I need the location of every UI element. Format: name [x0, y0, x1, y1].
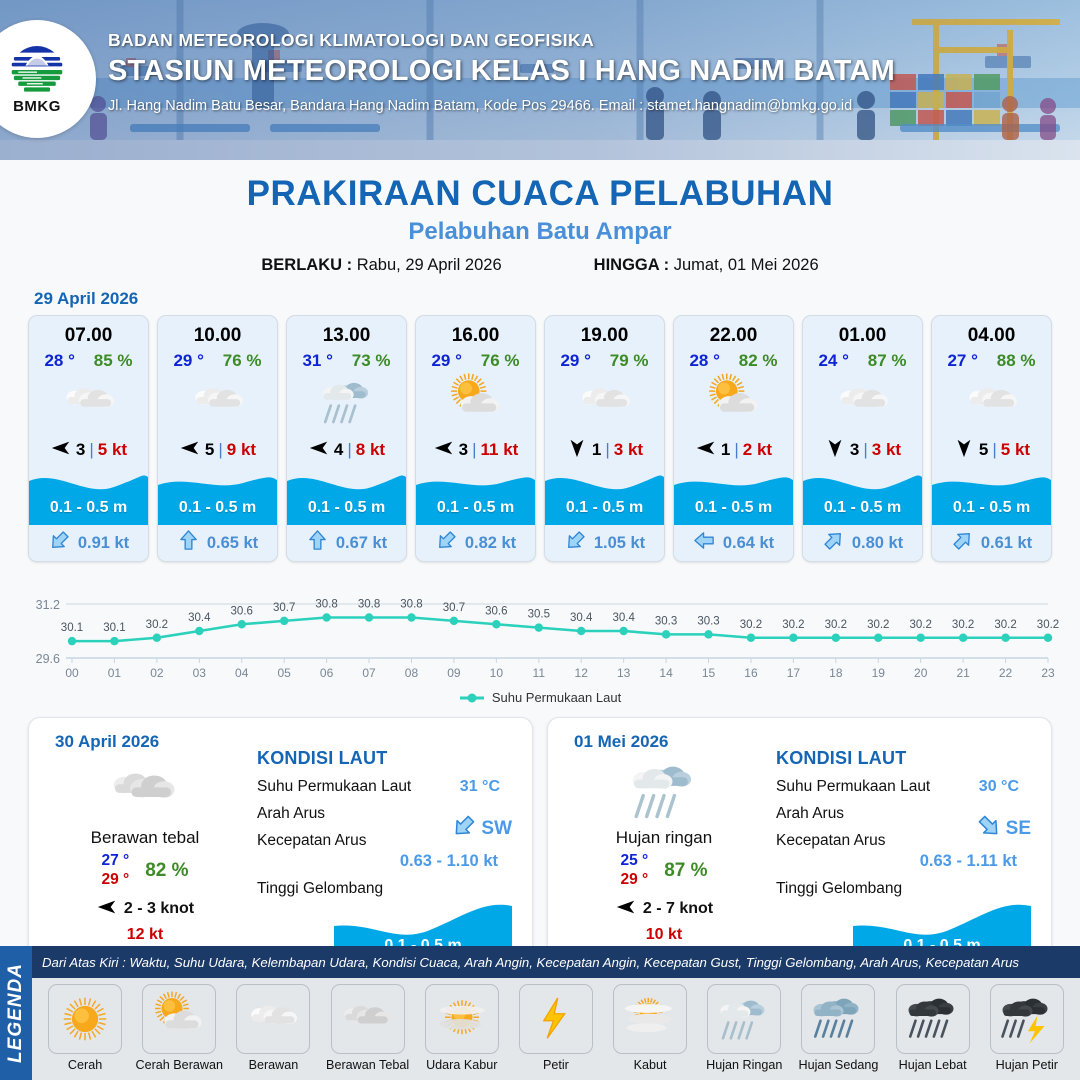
daily-temp-max: 29 °	[620, 871, 648, 890]
card-weather-icon-berawan	[803, 371, 922, 433]
card-wave-block: 0.1 - 0.5 m	[416, 467, 535, 525]
card-gust: 3 kt	[614, 440, 643, 460]
legenda-item: Cerah	[41, 984, 129, 1072]
card-current-direction-icon	[693, 529, 716, 557]
svg-text:23: 23	[1041, 666, 1055, 680]
berlaku-label: BERLAKU :	[261, 256, 352, 274]
svg-text:30.2: 30.2	[910, 619, 932, 631]
card-current-speed: 1.05 kt	[594, 534, 645, 553]
current-speed-value: 0.63 - 1.10 kt	[257, 852, 518, 871]
card-wind-separator: |	[863, 440, 867, 460]
svg-text:15: 15	[702, 666, 716, 680]
svg-text:31.2: 31.2	[36, 598, 60, 612]
card-wave-height: 0.1 - 0.5 m	[932, 499, 1051, 517]
sea-condition-title: KONDISI LAUT	[257, 748, 518, 769]
card-wind-separator: |	[734, 440, 738, 460]
daily-weather-icon-hujan-ringan	[564, 760, 764, 822]
card-wave-height: 0.1 - 0.5 m	[287, 499, 406, 517]
legenda-caption: Udara Kabur	[418, 1058, 506, 1072]
legenda-item: Hujan Ringan	[700, 984, 788, 1072]
legenda-icon-hujan-lebat	[896, 984, 970, 1054]
svg-text:30.2: 30.2	[146, 619, 168, 631]
card-wave-block: 0.1 - 0.5 m	[674, 467, 793, 525]
svg-text:30.7: 30.7	[273, 602, 295, 614]
svg-text:30.1: 30.1	[61, 622, 83, 634]
card-wind-separator: |	[218, 440, 222, 460]
legenda-item: Berawan Tebal	[324, 984, 412, 1072]
daily-humidity: 87 %	[664, 860, 707, 882]
card-wind-speed: 5	[205, 440, 214, 460]
daily-date: 01 Mei 2026	[574, 732, 669, 752]
card-current-speed: 0.91 kt	[78, 534, 129, 553]
page-subtitle: Pelabuhan Batu Ampar	[0, 218, 1080, 246]
svg-text:30.8: 30.8	[358, 599, 380, 611]
forecast-card[interactable]: 04.00 27 ° 88 % 5 | 5 kt 0.1 - 0.5 m 0.6…	[931, 315, 1052, 562]
card-wind-direction-icon	[824, 437, 846, 464]
legend-label: Suhu Permukaan Laut	[492, 690, 621, 705]
card-wind-direction-icon	[50, 437, 72, 464]
current-speed-label: Kecepatan Arus	[776, 832, 885, 849]
legenda-icon-petir	[519, 984, 593, 1054]
sst-row: Suhu Permukaan Laut 31 °C	[257, 778, 518, 796]
svg-text:16: 16	[744, 666, 758, 680]
legenda-item: Hujan Petir	[983, 984, 1071, 1072]
daily-gust: 12 kt	[45, 926, 245, 944]
card-wind-separator: |	[89, 440, 93, 460]
legenda-side-label: LEGENDA	[0, 946, 32, 1080]
card-time: 19.00	[545, 316, 664, 347]
card-wave-height: 0.1 - 0.5 m	[674, 499, 793, 517]
forecast-card[interactable]: 13.00 31 ° 73 % 4 | 8 kt 0.1 - 0.5 m 0.6…	[286, 315, 407, 562]
svg-text:30.2: 30.2	[825, 619, 847, 631]
card-temperature: 29 °	[560, 351, 590, 371]
card-wave-height: 0.1 - 0.5 m	[416, 499, 535, 517]
daily-humidity: 82 %	[145, 860, 188, 882]
legenda-note: Dari Atas Kiri : Waktu, Suhu Udara, Kele…	[32, 946, 1080, 978]
svg-text:30.4: 30.4	[612, 612, 635, 624]
svg-text:30.4: 30.4	[570, 612, 593, 624]
svg-text:30.6: 30.6	[231, 605, 253, 617]
daily-gust: 10 kt	[564, 926, 764, 944]
hingga-label: HINGGA :	[594, 256, 669, 274]
wave-height-label: Tinggi Gelombang	[776, 880, 902, 897]
legenda-icon-hujan-petir	[990, 984, 1064, 1054]
forecast-card[interactable]: 22.00 28 ° 82 % 1 | 2 kt 0.1 - 0.5 m 0.6…	[673, 315, 794, 562]
card-current-direction-icon	[822, 529, 845, 557]
svg-text:30.2: 30.2	[952, 619, 974, 631]
card-wind-speed: 1	[721, 440, 730, 460]
current-speed-row: Kecepatan Arus	[776, 832, 1037, 850]
card-weather-icon-berawan	[545, 371, 664, 433]
agency-name: BADAN METEOROLOGI KLIMATOLOGI DAN GEOFIS…	[108, 30, 1060, 51]
svg-text:30.7: 30.7	[443, 602, 465, 614]
daily-date: 30 April 2026	[55, 732, 159, 752]
svg-text:09: 09	[447, 666, 461, 680]
wave-height-row: Tinggi Gelombang	[776, 880, 1037, 898]
card-temperature: 29 °	[431, 351, 461, 371]
daily-weather-icon-berawan-tebal	[45, 760, 245, 822]
svg-text:21: 21	[956, 666, 970, 680]
svg-text:17: 17	[787, 666, 801, 680]
daily-wind-direction-icon	[615, 896, 637, 923]
svg-text:30.6: 30.6	[485, 605, 507, 617]
station-address: Jl. Hang Nadim Batu Besar, Bandara Hang …	[108, 98, 1060, 114]
card-time: 10.00	[158, 316, 277, 347]
svg-text:18: 18	[829, 666, 843, 680]
legenda-caption: Berawan	[229, 1058, 317, 1072]
legenda-side-text: LEGENDA	[5, 963, 27, 1063]
svg-text:30.4: 30.4	[188, 612, 211, 624]
legenda-icon-cerah-berawan	[142, 984, 216, 1054]
forecast-date: 29 April 2026	[34, 289, 1080, 309]
daily-condition: Hujan ringan	[564, 828, 764, 848]
card-wind-direction-icon	[179, 437, 201, 464]
legenda-item: Cerah Berawan	[135, 984, 223, 1072]
card-time: 01.00	[803, 316, 922, 347]
svg-text:22: 22	[999, 666, 1013, 680]
svg-text:30.2: 30.2	[867, 619, 889, 631]
legenda-item: Hujan Lebat	[889, 984, 977, 1072]
card-wind-speed: 3	[459, 440, 468, 460]
daily-temp-min: 25 °	[620, 852, 648, 871]
legenda-item: Kabut	[606, 984, 694, 1072]
legenda-item: Hujan Sedang	[794, 984, 882, 1072]
card-current-speed: 0.65 kt	[207, 534, 258, 553]
chart-legend: Suhu Permukaan Laut	[0, 690, 1080, 705]
svg-text:03: 03	[193, 666, 207, 680]
card-current-direction-icon	[435, 529, 458, 557]
card-time: 04.00	[932, 316, 1051, 347]
svg-text:30.1: 30.1	[103, 622, 125, 634]
card-wave-block: 0.1 - 0.5 m	[803, 467, 922, 525]
svg-text:14: 14	[659, 666, 673, 680]
svg-text:00: 00	[65, 666, 79, 680]
legenda-caption: Hujan Lebat	[889, 1058, 977, 1072]
legend-marker-icon	[459, 692, 485, 704]
current-direction-label: Arah Arus	[776, 805, 844, 822]
legenda-caption: Kabut	[606, 1058, 694, 1072]
card-humidity: 88 %	[997, 351, 1036, 371]
svg-text:02: 02	[150, 666, 164, 680]
card-current-direction-icon	[564, 529, 587, 557]
card-current-direction-icon	[306, 529, 329, 557]
legenda-item: Udara Kabur	[418, 984, 506, 1072]
forecast-card-list: 07.00 28 ° 85 % 3 | 5 kt 0.1 - 0.5 m 0.9…	[0, 315, 1080, 562]
card-current-speed: 0.80 kt	[852, 534, 903, 553]
legenda-caption: Hujan Sedang	[794, 1058, 882, 1072]
card-humidity: 79 %	[610, 351, 649, 371]
card-gust: 5 kt	[98, 440, 127, 460]
bmkg-logo-text: BMKG	[13, 98, 61, 115]
current-speed-label: Kecepatan Arus	[257, 832, 366, 849]
card-temperature: 24 °	[818, 351, 848, 371]
card-humidity: 76 %	[223, 351, 262, 371]
card-wind-separator: |	[992, 440, 996, 460]
svg-text:30.8: 30.8	[400, 599, 422, 611]
legenda-icon-cerah	[48, 984, 122, 1054]
card-wave-block: 0.1 - 0.5 m	[29, 467, 148, 525]
daily-summary-card[interactable]: 30 April 2026 Berawan tebal 27 ° 29 ° 82…	[28, 717, 533, 957]
card-wind-separator: |	[472, 440, 476, 460]
card-weather-icon-berawan	[932, 371, 1051, 433]
card-current-direction-icon	[951, 529, 974, 557]
card-wind-direction-icon	[308, 437, 330, 464]
card-current-speed: 0.64 kt	[723, 534, 774, 553]
card-wind-direction-icon	[566, 437, 588, 464]
card-wave-block: 0.1 - 0.5 m	[158, 467, 277, 525]
validity-row: BERLAKU : Rabu, 29 April 2026 HINGGA : J…	[0, 256, 1080, 275]
hingga-value: Jumat, 01 Mei 2026	[674, 256, 819, 274]
bmkg-logo-icon	[8, 44, 66, 96]
berlaku-group: BERLAKU : Rabu, 29 April 2026	[261, 256, 501, 275]
card-time: 16.00	[416, 316, 535, 347]
current-direction-row: Arah Arus SW	[257, 805, 518, 823]
current-speed-row: Kecepatan Arus	[257, 832, 518, 850]
sst-row: Suhu Permukaan Laut 30 °C	[776, 778, 1037, 796]
legenda-caption: Petir	[512, 1058, 600, 1072]
svg-text:01: 01	[108, 666, 122, 680]
svg-text:30.2: 30.2	[740, 619, 762, 631]
forecast-card[interactable]: 16.00 29 ° 76 % 3 | 11 kt 0.1 - 0.5 m 0.…	[415, 315, 536, 562]
forecast-card[interactable]: 10.00 29 ° 76 % 5 | 9 kt 0.1 - 0.5 m 0.6…	[157, 315, 278, 562]
card-wind-speed: 4	[334, 440, 343, 460]
legenda-icon-berawan	[236, 984, 310, 1054]
svg-text:30.3: 30.3	[697, 615, 719, 627]
card-humidity: 85 %	[94, 351, 133, 371]
legenda-caption: Cerah	[41, 1058, 129, 1072]
svg-text:06: 06	[320, 666, 334, 680]
legenda-section: LEGENDA Dari Atas Kiri : Waktu, Suhu Uda…	[0, 946, 1080, 1080]
daily-wind-range: 2 - 3 knot	[124, 900, 194, 918]
card-current-direction-icon	[177, 529, 200, 557]
legenda-item: Berawan	[229, 984, 317, 1072]
page-title: PRAKIRAAN CUACA PELABUHAN	[0, 174, 1080, 214]
card-humidity: 73 %	[352, 351, 391, 371]
sst-chart: 31.229.600010203040506070809101112131415…	[20, 578, 1060, 686]
sst-label: Suhu Permukaan Laut	[776, 778, 930, 795]
card-temperature: 28 °	[44, 351, 74, 371]
card-wind-speed: 3	[850, 440, 859, 460]
svg-text:11: 11	[533, 666, 546, 680]
forecast-card[interactable]: 01.00 24 ° 87 % 3 | 3 kt 0.1 - 0.5 m 0.8…	[802, 315, 923, 562]
legenda-item: Petir	[512, 984, 600, 1072]
svg-text:30.2: 30.2	[782, 619, 804, 631]
card-temperature: 29 °	[173, 351, 203, 371]
card-gust: 5 kt	[1001, 440, 1030, 460]
card-time: 22.00	[674, 316, 793, 347]
card-wave-height: 0.1 - 0.5 m	[545, 499, 664, 517]
legenda-icon-hujan-ringan	[707, 984, 781, 1054]
card-gust: 8 kt	[356, 440, 385, 460]
svg-text:13: 13	[617, 666, 631, 680]
svg-text:07: 07	[362, 666, 376, 680]
svg-text:30.2: 30.2	[1037, 619, 1059, 631]
card-wind-direction-icon	[433, 437, 455, 464]
station-name: STASIUN METEOROLOGI KELAS I HANG NADIM B…	[108, 55, 1060, 88]
svg-text:20: 20	[914, 666, 928, 680]
svg-text:04: 04	[235, 666, 249, 680]
card-current-speed: 0.61 kt	[981, 534, 1032, 553]
card-weather-icon-cerah-berawan	[416, 371, 535, 433]
card-temperature: 28 °	[689, 351, 719, 371]
card-wind-direction-icon	[953, 437, 975, 464]
current-direction-label: Arah Arus	[257, 805, 325, 822]
card-current-speed: 0.67 kt	[336, 534, 387, 553]
card-weather-icon-berawan	[158, 371, 277, 433]
sst-value: 30 °C	[979, 778, 1019, 796]
card-current-direction-icon	[48, 529, 71, 557]
card-gust: 2 kt	[743, 440, 772, 460]
legenda-icon-berawan-tebal	[331, 984, 405, 1054]
svg-text:29.6: 29.6	[36, 652, 60, 666]
current-direction-row: Arah Arus SE	[776, 805, 1037, 823]
card-wind-direction-icon	[695, 437, 717, 464]
card-wave-block: 0.1 - 0.5 m	[545, 467, 664, 525]
wave-height-label: Tinggi Gelombang	[257, 880, 383, 897]
card-wind-separator: |	[347, 440, 351, 460]
legenda-caption: Hujan Ringan	[700, 1058, 788, 1072]
card-wave-block: 0.1 - 0.5 m	[932, 467, 1051, 525]
legenda-icon-udara-kabur	[425, 984, 499, 1054]
sea-condition-title: KONDISI LAUT	[776, 748, 1037, 769]
svg-text:30.3: 30.3	[655, 615, 677, 627]
card-time: 13.00	[287, 316, 406, 347]
card-wave-height: 0.1 - 0.5 m	[803, 499, 922, 517]
card-gust: 3 kt	[872, 440, 901, 460]
daily-temp-min: 27 °	[101, 852, 129, 871]
card-humidity: 87 %	[868, 351, 907, 371]
svg-text:12: 12	[575, 666, 589, 680]
svg-text:30.2: 30.2	[994, 619, 1016, 631]
legenda-icon-list: Cerah Cerah Berawan Berawan Berawan Teba…	[32, 978, 1080, 1080]
daily-summary-card[interactable]: 01 Mei 2026 Hujan ringan 25 ° 29 ° 87 % …	[547, 717, 1052, 957]
legenda-caption: Cerah Berawan	[135, 1058, 223, 1072]
card-temperature: 31 °	[302, 351, 332, 371]
card-temperature: 27 °	[947, 351, 977, 371]
daily-summary-list: 30 April 2026 Berawan tebal 27 ° 29 ° 82…	[0, 705, 1080, 957]
card-wave-height: 0.1 - 0.5 m	[29, 499, 148, 517]
card-wave-height: 0.1 - 0.5 m	[158, 499, 277, 517]
card-weather-icon-berawan	[29, 371, 148, 433]
card-weather-icon-hujan-ringan	[287, 371, 406, 433]
daily-wind-direction-icon	[96, 896, 118, 923]
daily-wind-range: 2 - 7 knot	[643, 900, 713, 918]
card-time: 07.00	[29, 316, 148, 347]
card-humidity: 76 %	[481, 351, 520, 371]
card-wind-separator: |	[605, 440, 609, 460]
daily-condition: Berawan tebal	[45, 828, 245, 848]
legenda-icon-hujan-sedang	[801, 984, 875, 1054]
svg-text:19: 19	[872, 666, 886, 680]
svg-text:10: 10	[490, 666, 504, 680]
berlaku-value: Rabu, 29 April 2026	[357, 256, 502, 274]
svg-text:30.5: 30.5	[528, 609, 550, 621]
forecast-card[interactable]: 19.00 29 ° 79 % 1 | 3 kt 0.1 - 0.5 m 1.0…	[544, 315, 665, 562]
card-humidity: 82 %	[739, 351, 778, 371]
daily-temp-max: 29 °	[101, 871, 129, 890]
legenda-caption: Berawan Tebal	[324, 1058, 412, 1072]
card-wind-speed: 1	[592, 440, 601, 460]
forecast-card[interactable]: 07.00 28 ° 85 % 3 | 5 kt 0.1 - 0.5 m 0.9…	[28, 315, 149, 562]
page-header: BMKG BADAN METEOROLOGI KLIMATOLOGI DAN G…	[0, 0, 1080, 160]
card-weather-icon-cerah-berawan	[674, 371, 793, 433]
current-speed-value: 0.63 - 1.11 kt	[776, 852, 1037, 871]
legenda-icon-kabut	[613, 984, 687, 1054]
card-wave-block: 0.1 - 0.5 m	[287, 467, 406, 525]
title-section: PRAKIRAAN CUACA PELABUHAN Pelabuhan Batu…	[0, 160, 1080, 275]
sst-label: Suhu Permukaan Laut	[257, 778, 411, 795]
svg-text:08: 08	[405, 666, 419, 680]
card-wind-speed: 5	[979, 440, 988, 460]
wave-height-row: Tinggi Gelombang	[257, 880, 518, 898]
card-gust: 9 kt	[227, 440, 256, 460]
card-current-speed: 0.82 kt	[465, 534, 516, 553]
card-gust: 11 kt	[481, 440, 519, 460]
svg-text:30.8: 30.8	[315, 599, 337, 611]
svg-text:05: 05	[277, 666, 291, 680]
hingga-group: HINGGA : Jumat, 01 Mei 2026	[594, 256, 819, 275]
sst-value: 31 °C	[460, 778, 500, 796]
legenda-caption: Hujan Petir	[983, 1058, 1071, 1072]
card-wind-speed: 3	[76, 440, 85, 460]
